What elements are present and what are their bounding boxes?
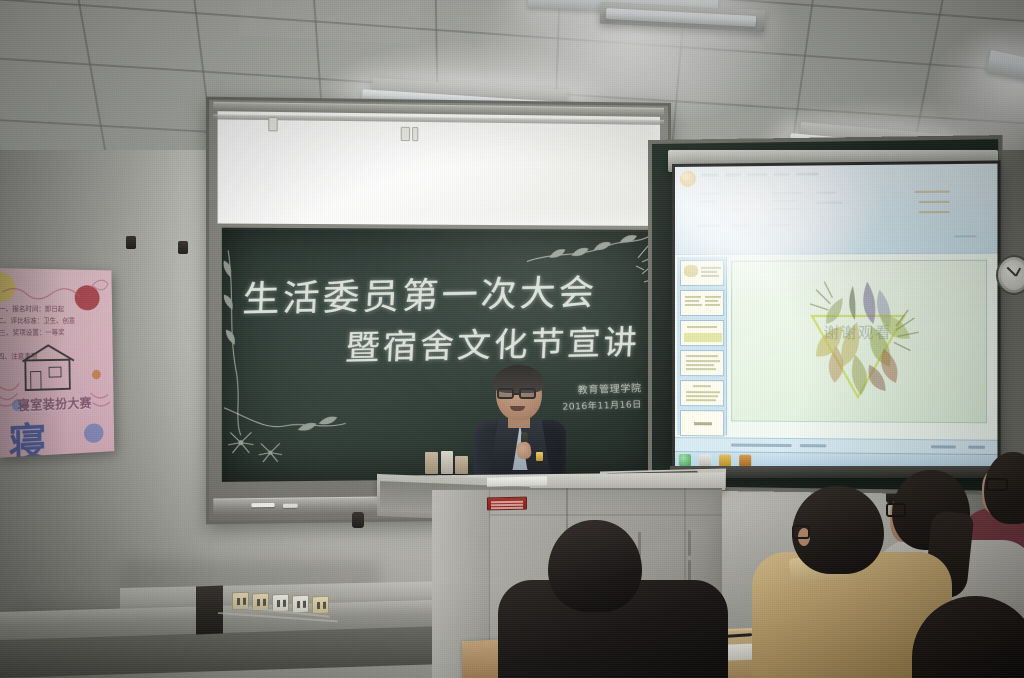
- powerpoint-ribbon[interactable]: [675, 164, 997, 255]
- glasses-bridge: [513, 393, 520, 395]
- powerpoint-window[interactable]: 谢谢观看: [675, 164, 997, 471]
- presenter-badge: [536, 452, 543, 461]
- podium-cup: [425, 452, 438, 474]
- glasses-icon: [986, 478, 1008, 491]
- classroom-photo-scene: 生活委员第一次大会 暨宿舍文化节宣讲 教育管理学院 2016年11月16日: [0, 0, 1024, 678]
- slide-thumbnail[interactable]: [679, 260, 723, 286]
- wall-peg-1: [126, 236, 136, 249]
- whiteboard-panel: [218, 108, 660, 226]
- glasses-icon: [519, 388, 536, 399]
- clock-face: [1001, 260, 1024, 290]
- glasses-icon: [497, 388, 514, 399]
- podium-handout: [487, 476, 547, 487]
- taskbar-item-icon[interactable]: [699, 454, 711, 466]
- board-clip-center: [401, 127, 410, 141]
- audience-member-hoodie-head: [548, 520, 642, 612]
- podium-warning-label: [487, 497, 527, 511]
- slide-thumbnail[interactable]: [679, 320, 723, 346]
- projector-screen[interactable]: 谢谢观看: [672, 160, 1001, 473]
- wall-speaker-left: [352, 512, 364, 528]
- taskbar-item-icon[interactable]: [739, 455, 751, 467]
- chalkboard-signature-org: 教育管理学院: [578, 379, 642, 396]
- podium-cup: [441, 451, 453, 474]
- power-outlet[interactable]: [312, 596, 329, 615]
- chalk-flower-bottom-left: [222, 389, 348, 472]
- glasses-icon: [886, 503, 906, 517]
- slide-title-text: 谢谢观看: [824, 321, 893, 342]
- glasses-icon: [792, 525, 810, 539]
- slide-thumbnail[interactable]: [679, 410, 723, 436]
- slide-thumbnail-panel[interactable]: [677, 257, 727, 436]
- wall-clock: [996, 255, 1024, 295]
- chalkboard-headline-line1: 生活委员第一次大会: [241, 264, 598, 323]
- wall-poster: 一、报名时间：即日起 二、评比标准：卫生、创意 三、奖项设置：一等奖 四、注意事…: [0, 268, 114, 458]
- chalkboard-signature-date: 2016年11月16日: [563, 397, 643, 413]
- active-slide[interactable]: 谢谢观看: [731, 260, 987, 424]
- poster-shadow-overlay: [0, 268, 114, 458]
- chalkboard-surface: 生活委员第一次大会 暨宿舍文化节宣讲 教育管理学院 2016年11月16日: [222, 228, 656, 482]
- power-outlet[interactable]: [292, 595, 309, 614]
- board-clip-left: [268, 117, 277, 131]
- taskbar-item-icon[interactable]: [719, 454, 731, 466]
- slide-thumbnail[interactable]: [679, 350, 723, 376]
- wall-peg-2: [178, 241, 188, 254]
- board-clip-center-2: [412, 127, 418, 141]
- chalkboard-headline-line2: 暨宿舍文化节宣讲: [344, 316, 641, 370]
- slide-thumbnail[interactable]: [679, 380, 723, 406]
- slide-thumbnail[interactable]: [679, 290, 723, 316]
- presenter-hand: [516, 441, 532, 460]
- taskbar-start-icon[interactable]: [679, 454, 691, 466]
- podium-cup: [455, 456, 468, 474]
- wall-conduit-box: [196, 586, 223, 635]
- chalkboard-assembly: 生活委员第一次大会 暨宿舍文化节宣讲 教育管理学院 2016年11月16日: [206, 97, 671, 525]
- office-orb-icon[interactable]: [680, 171, 696, 187]
- clock-minute-hand: [1007, 267, 1017, 276]
